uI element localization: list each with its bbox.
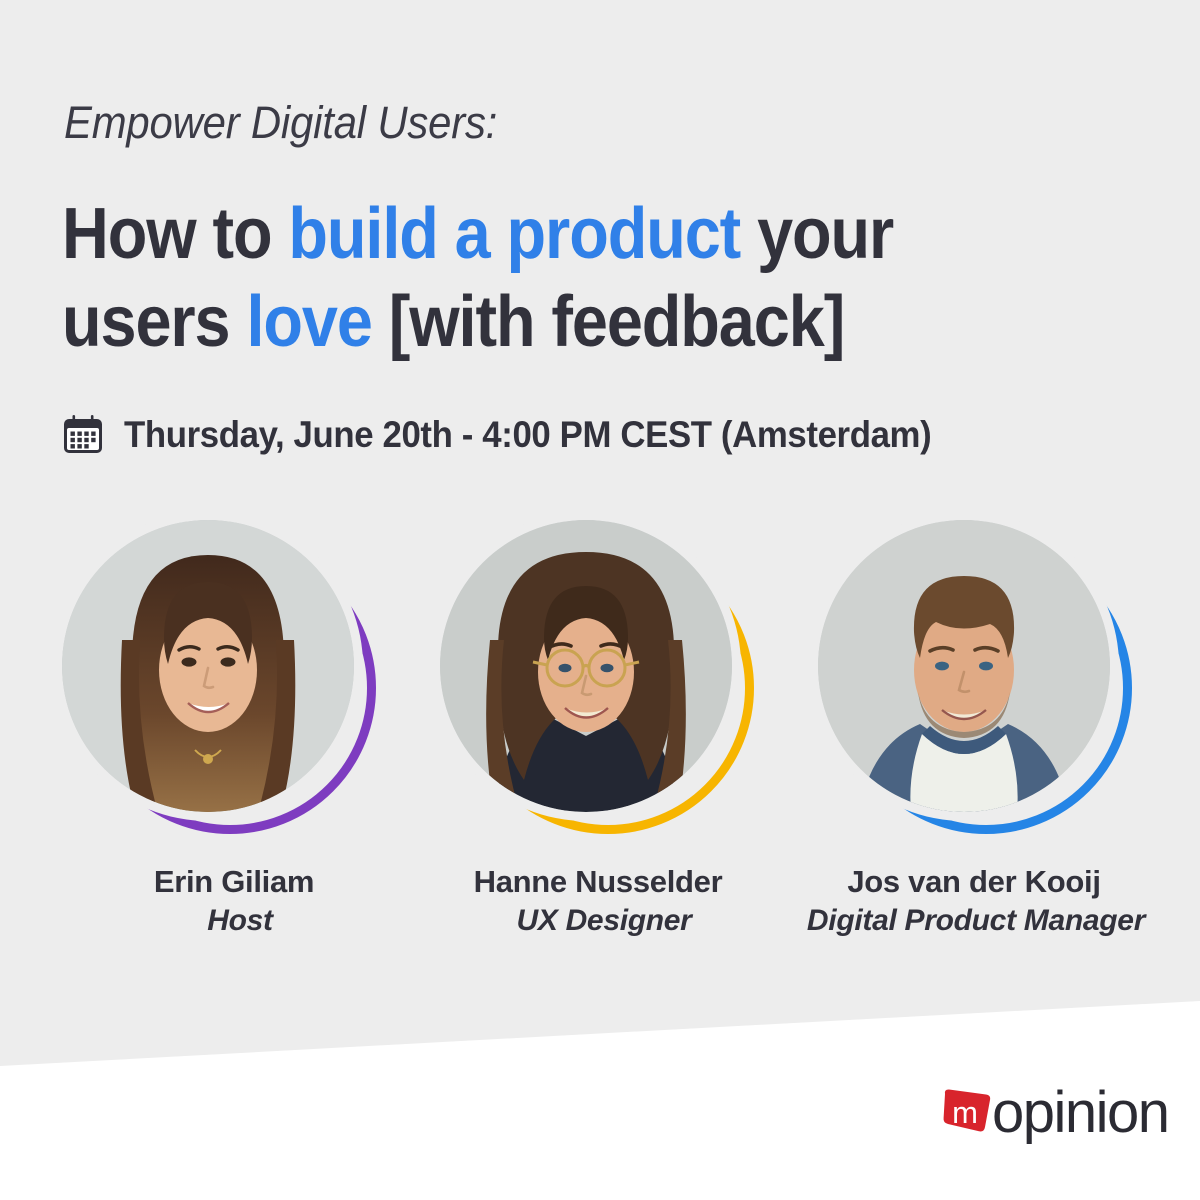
speaker-name: Erin Giliam xyxy=(54,864,414,900)
calendar-icon xyxy=(62,414,104,456)
event-date-text: Thursday, June 20th - 4:00 PM CEST (Amst… xyxy=(124,414,931,456)
avatar-hanne-nusselder xyxy=(440,520,732,812)
headline-highlight-2: love xyxy=(246,282,371,362)
page-title: How to build a product your users love [… xyxy=(62,190,1016,366)
headline-text-2b: [with feedback] xyxy=(372,282,844,362)
avatar-jos-van-der-kooij xyxy=(818,520,1110,812)
speaker-role: Digital Product Manager xyxy=(796,904,1156,938)
headline-text-2a: users xyxy=(62,282,246,362)
headline-line-2: users love [with feedback] xyxy=(62,282,844,362)
mopinion-mark-icon: m xyxy=(938,1087,994,1139)
headline-highlight-1: build a product xyxy=(288,194,740,274)
speaker-role: UX Designer xyxy=(424,904,784,938)
event-date-row: Thursday, June 20th - 4:00 PM CEST (Amst… xyxy=(62,414,983,456)
speaker-card-jos-van-der-kooij: Jos van der Kooij Digital Product Manage… xyxy=(798,520,1158,990)
webinar-promo-poster: Empower Digital Users: How to build a pr… xyxy=(0,0,1200,1200)
speaker-name: Jos van der Kooij xyxy=(794,864,1154,900)
speaker-role: Host xyxy=(60,904,420,938)
speaker-card-erin-giliam: Erin Giliam Host xyxy=(42,520,402,990)
headline-line-1: How to build a product your xyxy=(62,194,893,274)
avatar-erin-giliam xyxy=(62,520,354,812)
avatar-wrap xyxy=(440,520,760,850)
headline-text-1a: How to xyxy=(62,194,288,274)
speaker-name: Hanne Nusselder xyxy=(418,864,778,900)
mopinion-wordmark: opinion xyxy=(992,1087,1169,1139)
headline-text-1b: your xyxy=(740,194,893,274)
eyebrow-text: Empower Digital Users: xyxy=(64,97,497,149)
mopinion-logo: m opinion xyxy=(938,1087,1169,1139)
mopinion-mark-letter: m xyxy=(952,1095,978,1130)
speaker-card-hanne-nusselder: Hanne Nusselder UX Designer xyxy=(420,520,780,990)
avatar-wrap xyxy=(818,520,1138,850)
avatar-wrap xyxy=(62,520,382,850)
speakers-row: Erin Giliam Host xyxy=(0,520,1200,990)
